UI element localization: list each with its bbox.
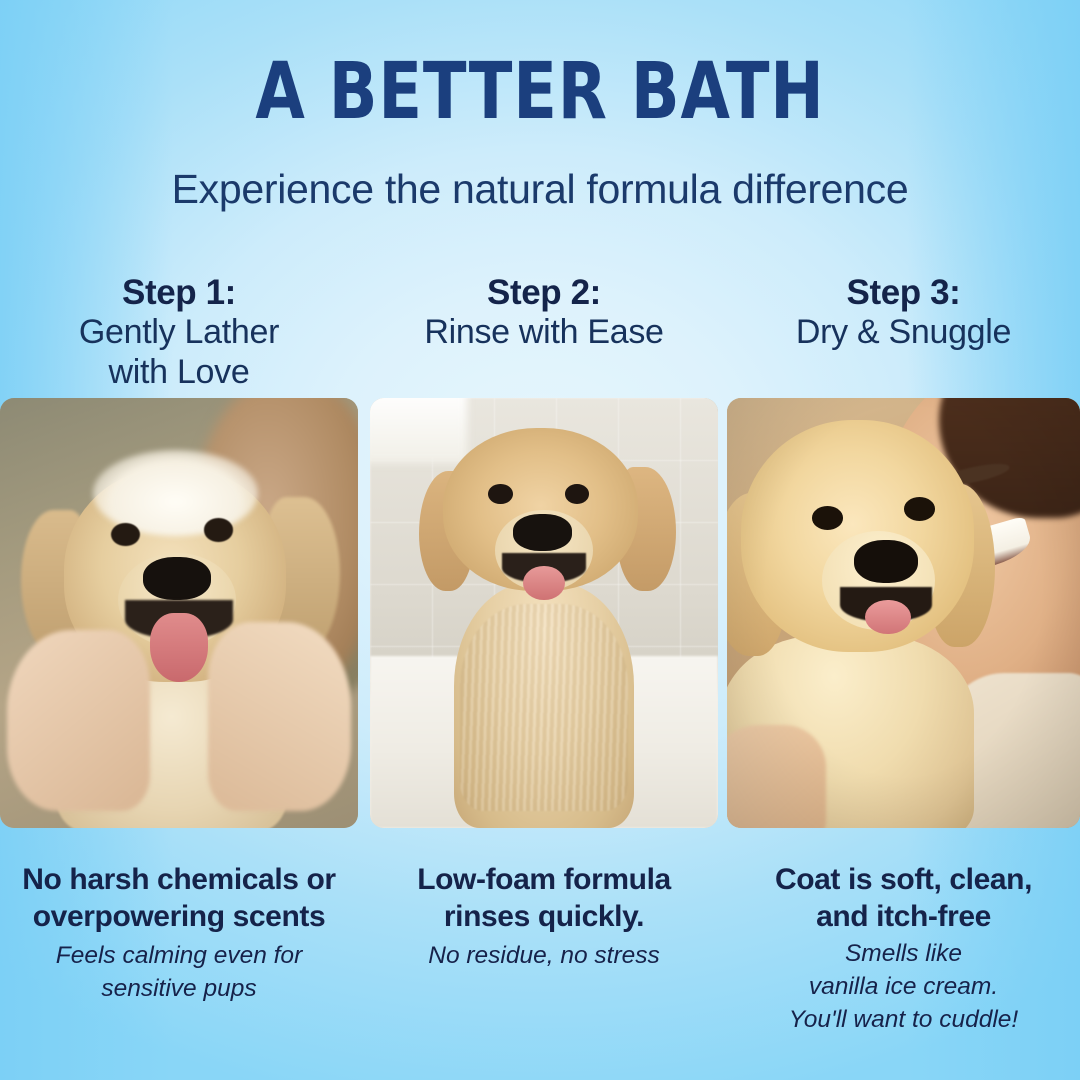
subcaption-2-line1: No residue, no stress: [370, 940, 718, 973]
subcaption-1-line1: Feels calming even for: [0, 940, 358, 973]
caption-heading-2: Low-foam formula rinses quickly.: [370, 862, 718, 935]
caption-1-line2: overpowering scents: [0, 899, 358, 936]
infographic-root: A BETTER BATH Experience the natural for…: [0, 0, 1080, 1080]
step-photo-2: [370, 398, 718, 828]
step-title-1-line2: with Love: [0, 353, 358, 392]
subcaption-1: Feels calming even for sensitive pups: [0, 940, 358, 1006]
caption-1-line1: No harsh chemicals or: [0, 862, 358, 899]
step-photo-3: [727, 398, 1080, 828]
subcaption-2: No residue, no stress: [370, 940, 718, 973]
step-heading-3: Step 3: Dry & Snuggle: [727, 272, 1080, 353]
caption-heading-3: Coat is soft, clean, and itch-free: [727, 862, 1080, 935]
step-column-3: Step 3: Dry & Snuggle Coat is soft, clea: [727, 0, 1080, 1080]
step-photo-1: [0, 398, 358, 828]
step-column-1: Step 1: Gently Lather with Love No harsh…: [0, 0, 358, 1080]
subcaption-3-line2: vanilla ice cream.: [727, 971, 1080, 1004]
caption-2-line1: Low-foam formula: [370, 862, 718, 899]
step-heading-1: Step 1: Gently Lather with Love: [0, 272, 358, 392]
caption-heading-1: No harsh chemicals or overpowering scent…: [0, 862, 358, 935]
subcaption-3: Smells like vanilla ice cream. You'll wa…: [727, 938, 1080, 1036]
step-title-2-line1: Rinse with Ease: [370, 313, 718, 352]
caption-3-line2: and itch-free: [727, 899, 1080, 936]
subcaption-1-line2: sensitive pups: [0, 973, 358, 1006]
subcaption-3-line3: You'll want to cuddle!: [727, 1004, 1080, 1037]
caption-2-line2: rinses quickly.: [370, 899, 718, 936]
step-label-2: Step 2:: [370, 272, 718, 313]
step-column-2: Step 2: Rinse with Ease Low-foam formula…: [370, 0, 718, 1080]
step-label-3: Step 3:: [727, 272, 1080, 313]
subcaption-3-line1: Smells like: [727, 938, 1080, 971]
step-title-3-line1: Dry & Snuggle: [727, 313, 1080, 352]
caption-3-line1: Coat is soft, clean,: [727, 862, 1080, 899]
step-heading-2: Step 2: Rinse with Ease: [370, 272, 718, 353]
step-title-1-line1: Gently Lather: [0, 313, 358, 352]
step-label-1: Step 1:: [0, 272, 358, 313]
